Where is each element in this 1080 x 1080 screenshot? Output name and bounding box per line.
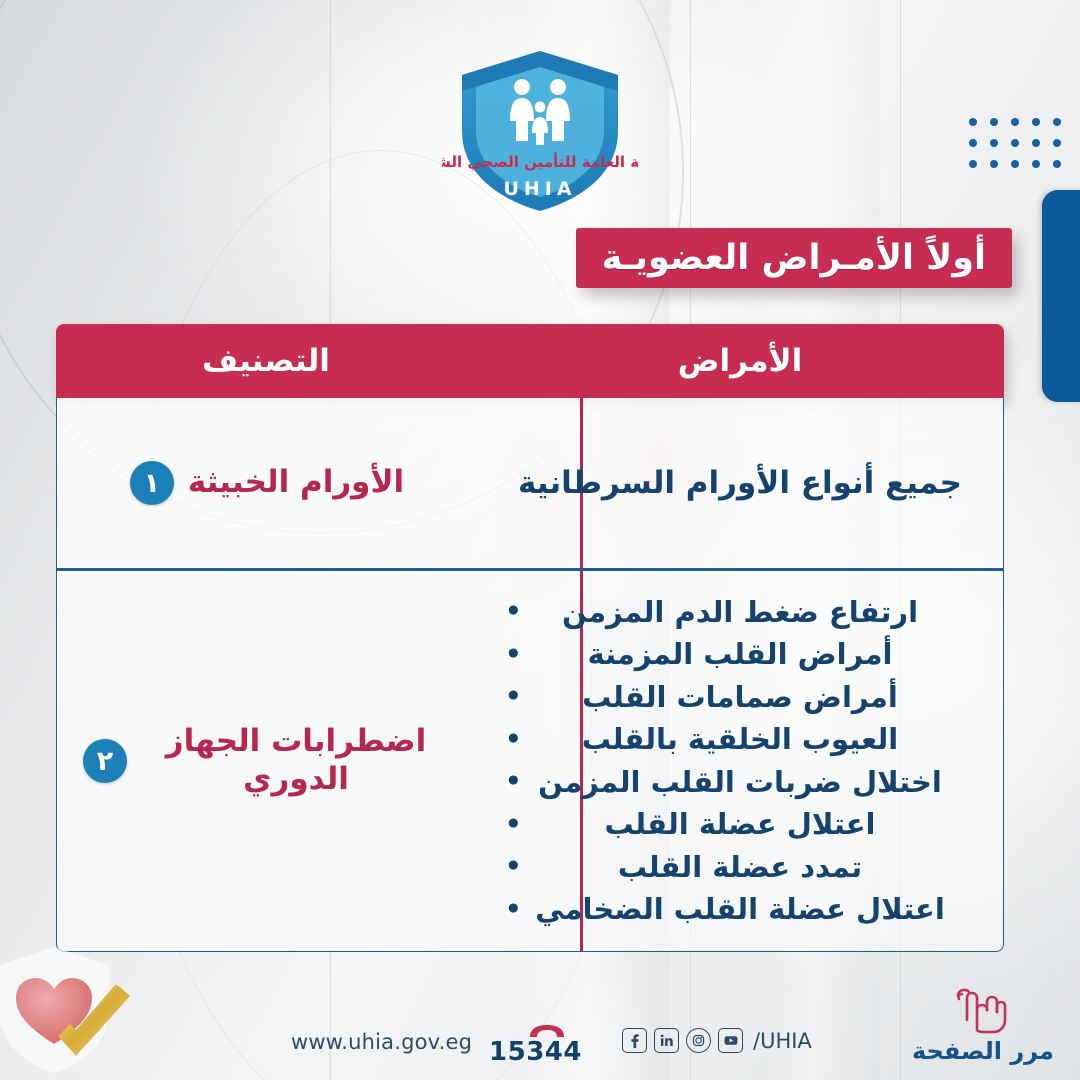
disease-text: جميع أنواع الأورام السرطانية bbox=[518, 465, 962, 501]
infographic-canvas: الهيئة العامة للتأمين الصحي الشامل UHIA … bbox=[0, 0, 1080, 1080]
table-row: جميع أنواع الأورام السرطانية الأورام الخ… bbox=[57, 398, 1003, 568]
instagram-icon[interactable] bbox=[686, 1028, 711, 1053]
classification-cell: الأورام الخبيثة ١ bbox=[57, 398, 477, 568]
svg-text:UHIA: UHIA bbox=[503, 178, 576, 200]
row-number-badge: ١ bbox=[130, 461, 174, 505]
list-item: اعتلال عضلة القلب الضخامي bbox=[507, 895, 973, 924]
list-item: اختلال ضربات القلب المزمن bbox=[507, 768, 973, 797]
list-item: اعتلال عضلة القلب bbox=[507, 810, 973, 839]
row-number-badge: ٢ bbox=[83, 739, 127, 783]
dot-grid-pattern bbox=[963, 112, 1067, 174]
diseases-table: الأمراض التصنيف جميع أنواع الأورام السرط… bbox=[56, 324, 1004, 952]
list-item: أمراض القلب المزمنة bbox=[507, 640, 973, 669]
hotline-block[interactable]: 15344 bbox=[512, 1024, 582, 1065]
list-item: أمراض صمامات القلب bbox=[507, 683, 973, 712]
classification-label: الأورام الخبيثة bbox=[188, 464, 404, 502]
blue-side-tab bbox=[1042, 190, 1080, 402]
page-title: أولاً الأمـراض العضويـة bbox=[602, 241, 986, 276]
column-header-diseases: الأمراض bbox=[476, 324, 1004, 398]
table-header-row: الأمراض التصنيف bbox=[56, 324, 1004, 398]
uhia-shield-logo: الهيئة العامة للتأمين الصحي الشامل UHIA bbox=[442, 45, 638, 215]
table-row: ارتفاع ضغط الدم المزمن أمراض القلب المزم… bbox=[57, 571, 1003, 951]
hotline-number: 15344 bbox=[512, 1039, 582, 1065]
disease-bullet-list: ارتفاع ضغط الدم المزمن أمراض القلب المزم… bbox=[507, 584, 973, 938]
classification-cell: اضطرابات الجهاز الدوري ٢ bbox=[57, 571, 477, 951]
svg-text:الهيئة العامة للتأمين الصحي ال: الهيئة العامة للتأمين الصحي الشامل bbox=[442, 152, 638, 171]
social-handle: /UHIA bbox=[753, 1029, 812, 1053]
list-item: ارتفاع ضغط الدم المزمن bbox=[507, 598, 973, 627]
column-header-classification: التصنيف bbox=[56, 324, 476, 398]
website-link[interactable]: www.uhia.gov.eg bbox=[291, 1030, 472, 1054]
classification-label: اضطرابات الجهاز الدوري bbox=[141, 723, 451, 799]
list-item: تمدد عضلة القلب bbox=[507, 853, 973, 882]
diseases-cell: ارتفاع ضغط الدم المزمن أمراض القلب المزم… bbox=[477, 571, 1003, 951]
table-body: جميع أنواع الأورام السرطانية الأورام الخ… bbox=[56, 398, 1004, 952]
list-item: العيوب الخلقية بالقلب bbox=[507, 725, 973, 754]
phone-receiver-icon bbox=[527, 1024, 567, 1038]
social-links[interactable]: /UHIA bbox=[622, 1028, 812, 1053]
youtube-icon[interactable] bbox=[718, 1028, 743, 1053]
diseases-cell: جميع أنواع الأورام السرطانية bbox=[477, 398, 1003, 568]
section-title-banner: أولاً الأمـراض العضويـة bbox=[576, 228, 1012, 288]
facebook-icon[interactable] bbox=[622, 1028, 647, 1053]
footer-bar: www.uhia.gov.eg 15344 bbox=[0, 1022, 1080, 1080]
linkedin-icon[interactable] bbox=[654, 1028, 679, 1053]
